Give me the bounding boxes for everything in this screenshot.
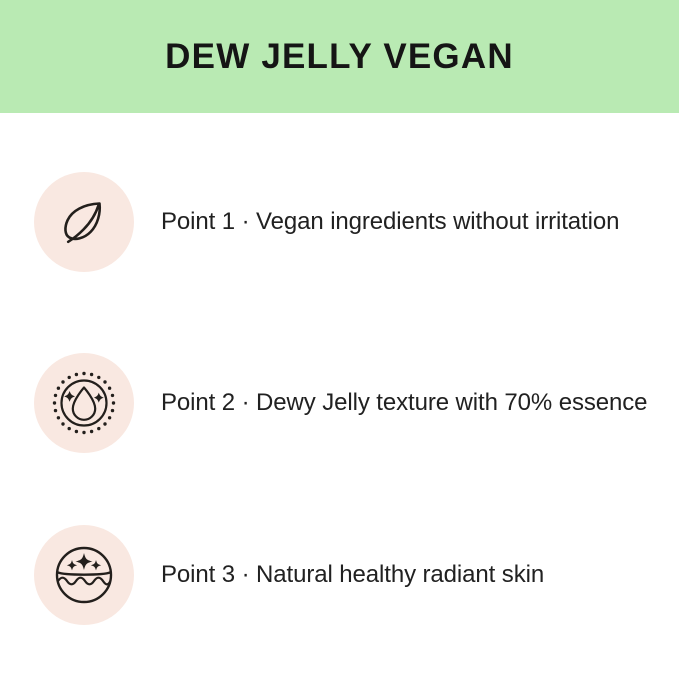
list-item-label: Point 3 · Natural healthy radiant skin — [161, 561, 544, 590]
list-item-label: Point 1 · Vegan ingredients without irri… — [161, 208, 619, 237]
points-list: Point 1 · Vegan ingredients without irri… — [0, 113, 679, 679]
water-drop-sparkle-icon-badge — [34, 353, 134, 453]
product-feature-card: DEW JELLY VEGAN Point 1 · Vegan ingredie… — [0, 0, 679, 679]
list-item: Point 3 · Natural healthy radiant skin — [0, 525, 679, 625]
glowing-skin-icon — [51, 542, 117, 608]
water-drop-sparkle-icon — [51, 370, 117, 436]
header-banner: DEW JELLY VEGAN — [0, 0, 679, 113]
leaf-icon-badge — [34, 172, 134, 272]
list-item-label: Point 2 · Dewy Jelly texture with 70% es… — [161, 389, 647, 418]
list-item: Point 1 · Vegan ingredients without irri… — [0, 172, 679, 272]
page-title: DEW JELLY VEGAN — [165, 39, 514, 74]
glowing-skin-icon-badge — [34, 525, 134, 625]
list-item: Point 2 · Dewy Jelly texture with 70% es… — [0, 353, 679, 453]
leaf-icon — [52, 190, 116, 254]
